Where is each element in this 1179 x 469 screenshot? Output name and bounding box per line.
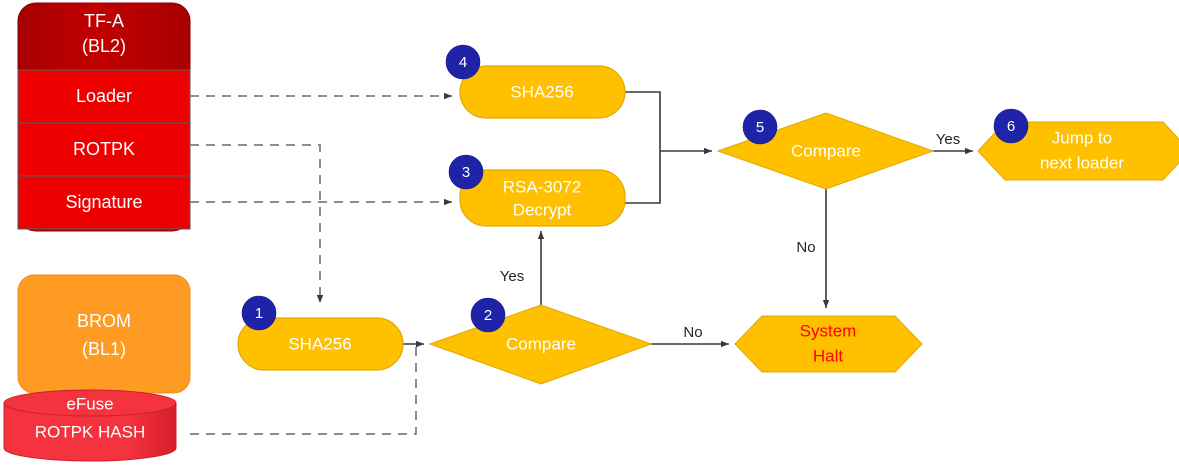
edge-label-compare-hash-no: No bbox=[683, 324, 702, 341]
node-rsa-decrypt-label-line1: RSA-3072 bbox=[503, 177, 581, 196]
node-sha256-bl1-label: SHA256 bbox=[288, 334, 351, 353]
node-sha256-loader-label: SHA256 bbox=[510, 82, 573, 101]
efuse-cylinder: eFuse ROTPK HASH bbox=[4, 390, 176, 461]
node-jump-label-line1: Jump to bbox=[1052, 128, 1112, 147]
efuse-title: eFuse bbox=[66, 394, 113, 413]
diagram-canvas: TF-A (BL2) Loader ROTPK Signature BROM (… bbox=[0, 0, 1179, 469]
node-system-halt-label-line2: Halt bbox=[813, 346, 844, 365]
node-compare-signature[interactable]: Compare 5 bbox=[718, 110, 933, 189]
edge-label-compare-sig-yes: Yes bbox=[936, 131, 960, 148]
tfa-row-loader-label: Loader bbox=[76, 86, 132, 106]
node-system-halt-label-line1: System bbox=[800, 321, 857, 340]
badge-3-number: 3 bbox=[462, 164, 470, 181]
brom-memory-block: BROM (BL1) bbox=[18, 275, 190, 393]
badge-1-number: 1 bbox=[255, 305, 263, 322]
tfa-row-signature-label: Signature bbox=[65, 192, 142, 212]
edge-label-compare-sig-no: No bbox=[796, 239, 815, 256]
tfa-title-line1: TF-A bbox=[84, 11, 124, 31]
node-compare-hash-label: Compare bbox=[506, 334, 576, 353]
brom-title-line2: (BL1) bbox=[82, 339, 126, 359]
badge-5-number: 5 bbox=[756, 119, 764, 136]
efuse-content-label: ROTPK HASH bbox=[35, 422, 146, 441]
node-system-halt[interactable]: System Halt bbox=[735, 316, 922, 372]
badge-2-number: 2 bbox=[484, 307, 492, 324]
edge-label-compare-hash-yes: Yes bbox=[500, 268, 524, 285]
badge-6-number: 6 bbox=[1007, 118, 1015, 135]
tfa-row-rotpk-label: ROTPK bbox=[73, 139, 135, 159]
node-compare-hash[interactable]: Compare 2 bbox=[430, 298, 651, 384]
node-sha256-bl1[interactable]: SHA256 1 bbox=[238, 296, 403, 370]
secure-boot-flowchart: TF-A (BL2) Loader ROTPK Signature BROM (… bbox=[0, 0, 1179, 469]
edge-rsa-to-compare-sig bbox=[625, 151, 660, 203]
node-jump-next-loader[interactable]: Jump to next loader 6 bbox=[978, 109, 1179, 180]
edge-rotpk-to-sha256-bl1 bbox=[190, 145, 320, 303]
node-sha256-loader[interactable]: SHA256 4 bbox=[446, 45, 625, 118]
badge-4-number: 4 bbox=[459, 54, 467, 71]
brom-title-line1: BROM bbox=[77, 311, 131, 331]
tfa-memory-block: TF-A (BL2) Loader ROTPK Signature bbox=[18, 3, 190, 231]
tfa-title-line2: (BL2) bbox=[82, 36, 126, 56]
edge-sha256loader-to-compare-sig bbox=[625, 92, 712, 151]
node-rsa-decrypt[interactable]: RSA-3072 Decrypt 3 bbox=[449, 155, 625, 226]
node-compare-signature-label: Compare bbox=[791, 141, 861, 160]
node-jump-label-line2: next loader bbox=[1040, 153, 1124, 172]
node-rsa-decrypt-label-line2: Decrypt bbox=[513, 200, 572, 219]
